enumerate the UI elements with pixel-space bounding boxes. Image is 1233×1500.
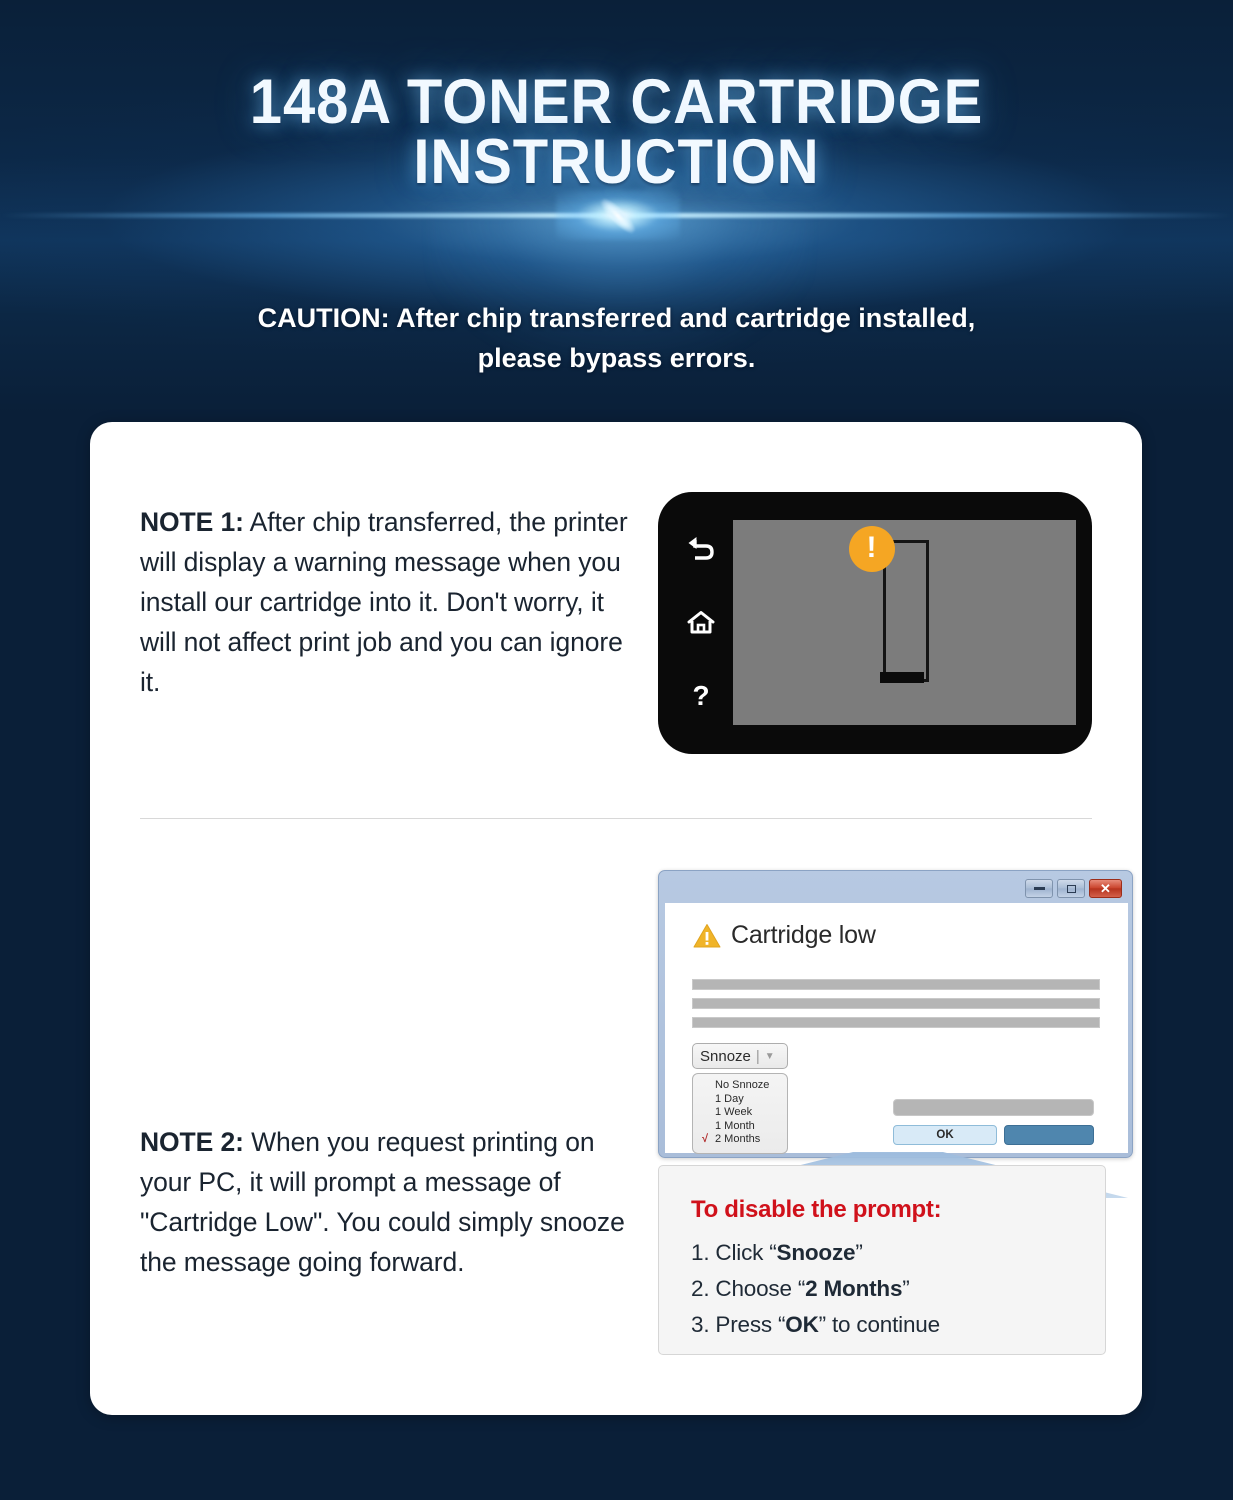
snooze-option-label: No Snnoze xyxy=(715,1079,769,1091)
caution-line2: please bypass errors. xyxy=(478,343,756,373)
snooze-dropdown-value: Snnoze xyxy=(700,1048,751,1065)
dialog-title: Cartridge low xyxy=(731,921,876,950)
svg-text:?: ? xyxy=(692,681,709,711)
page-title: 148A TONER CARTRIDGE INSTRUCTION xyxy=(49,72,1183,192)
snooze-option-1-day[interactable]: 1 Day xyxy=(697,1093,783,1107)
printer-control-panel: ? ! xyxy=(658,492,1092,754)
snooze-option-label: 1 Day xyxy=(715,1093,744,1105)
printer-panel-icons: ? xyxy=(672,536,730,711)
step-pre: Press “ xyxy=(709,1312,785,1337)
secondary-button[interactable] xyxy=(1004,1125,1094,1145)
note-1-label: NOTE 1: xyxy=(140,507,244,537)
step-number: 2. xyxy=(691,1276,709,1301)
dialog-body: Cartridge low Snnoze | ▼ No Snnoze 1 Day… xyxy=(665,903,1128,1153)
placeholder-field xyxy=(893,1099,1094,1116)
step-strong: OK xyxy=(785,1312,818,1337)
snooze-option-label: 1 Month xyxy=(715,1120,755,1132)
caution-label: CAUTION: xyxy=(258,303,390,333)
warning-triangle-icon xyxy=(693,923,721,949)
toner-cartridge-base xyxy=(880,672,924,683)
instruction-step-2: 2. Choose “2 Months” xyxy=(691,1271,1105,1307)
caution-line1: After chip transferred and cartridge ins… xyxy=(390,303,976,333)
page-title-line2: INSTRUCTION xyxy=(49,132,1183,192)
section-divider xyxy=(140,818,1092,819)
caution-text: CAUTION: After chip transferred and cart… xyxy=(0,298,1233,378)
step-post: ” to continue xyxy=(819,1312,940,1337)
note-2: NOTE 2: When you request printing on you… xyxy=(140,1122,630,1282)
ok-button[interactable]: OK xyxy=(893,1125,997,1145)
chevron-down-icon: ▼ xyxy=(765,1051,775,1062)
home-icon[interactable] xyxy=(686,609,716,635)
step-number: 1. xyxy=(691,1240,709,1265)
step-pre: Click “ xyxy=(709,1240,776,1265)
back-arrow-icon[interactable] xyxy=(686,536,716,562)
note-2-label: NOTE 2: xyxy=(140,1127,244,1157)
question-mark-icon[interactable]: ? xyxy=(688,681,714,711)
snooze-option-2-months[interactable]: √ 2 Months xyxy=(697,1133,783,1147)
instructions-title: To disable the prompt: xyxy=(691,1196,1105,1224)
restore-button[interactable] xyxy=(1057,879,1085,898)
ok-button-label: OK xyxy=(936,1129,953,1141)
snooze-dropdown-separator: | xyxy=(756,1048,760,1065)
minimize-button[interactable] xyxy=(1025,879,1053,898)
step-post: ” xyxy=(855,1240,862,1265)
snooze-option-list[interactable]: No Snnoze 1 Day 1 Week 1 Month √ 2 Month… xyxy=(692,1073,788,1154)
window-controls: ✕ xyxy=(1025,879,1122,898)
note-1: NOTE 1: After chip transferred, the prin… xyxy=(140,502,630,702)
step-pre: Choose “ xyxy=(709,1276,805,1301)
close-button[interactable]: ✕ xyxy=(1089,879,1122,898)
snooze-option-label: 1 Week xyxy=(715,1106,752,1118)
warning-badge-symbol: ! xyxy=(867,533,877,563)
disable-prompt-instructions: To disable the prompt: 1. Click “Snooze”… xyxy=(658,1165,1106,1355)
placeholder-bar xyxy=(692,979,1100,990)
cartridge-low-dialog: ✕ Cartridge low Snnoze | ▼ xyxy=(658,870,1133,1158)
instruction-step-1: 1. Click “Snooze” xyxy=(691,1235,1105,1271)
step-post: ” xyxy=(902,1276,909,1301)
step-strong: 2 Months xyxy=(805,1276,902,1301)
snooze-option-label: 2 Months xyxy=(715,1133,760,1145)
content-card: NOTE 1: After chip transferred, the prin… xyxy=(90,422,1142,1415)
snooze-dropdown[interactable]: Snnoze | ▼ xyxy=(692,1043,788,1069)
close-icon: ✕ xyxy=(1100,883,1111,894)
instruction-step-3: 3. Press “OK” to continue xyxy=(691,1307,1105,1343)
dialog-titlebar: ✕ xyxy=(659,871,1132,905)
warning-badge-icon: ! xyxy=(849,526,895,572)
checkmark-icon: √ xyxy=(702,1133,708,1147)
restore-icon xyxy=(1067,885,1076,893)
step-strong: Snooze xyxy=(777,1240,856,1265)
minimize-icon xyxy=(1034,887,1045,890)
snooze-option-1-week[interactable]: 1 Week xyxy=(697,1106,783,1120)
placeholder-bar xyxy=(692,998,1100,1009)
dialog-header: Cartridge low xyxy=(693,921,876,950)
placeholder-bar xyxy=(692,1017,1100,1028)
printer-screen: ! xyxy=(733,520,1076,725)
step-number: 3. xyxy=(691,1312,709,1337)
snooze-option-1-month[interactable]: 1 Month xyxy=(697,1120,783,1134)
snooze-option-no-snnoze[interactable]: No Snnoze xyxy=(697,1079,783,1093)
